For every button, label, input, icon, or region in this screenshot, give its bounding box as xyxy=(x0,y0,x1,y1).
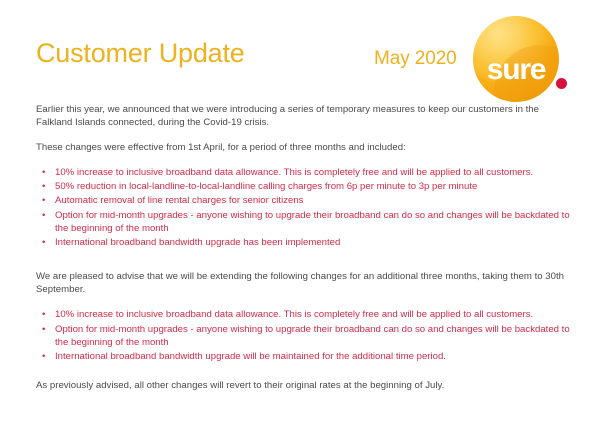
logo-sphere-icon xyxy=(473,16,559,102)
list-item: Automatic removal of line rental charges… xyxy=(36,194,570,207)
extended-measures-list: 10% increase to inclusive broadband data… xyxy=(36,308,570,363)
sure-logo: sure xyxy=(473,16,559,102)
list-item: 50% reduction in local-landline-to-local… xyxy=(36,180,570,193)
original-measures-list: 10% increase to inclusive broadband data… xyxy=(36,166,570,250)
page-title: Customer Update xyxy=(36,38,245,69)
list-item: 10% increase to inclusive broadband data… xyxy=(36,308,570,321)
document-body: Earlier this year, we announced that we … xyxy=(36,103,570,404)
intro-paragraph-2: These changes were effective from 1st Ap… xyxy=(36,141,570,154)
document-header: Customer Update May 2020 sure xyxy=(0,0,600,100)
list-item: Option for mid-month upgrades - anyone w… xyxy=(36,209,570,236)
list-item: International broadband bandwidth upgrad… xyxy=(36,236,570,249)
list-item: 10% increase to inclusive broadband data… xyxy=(36,166,570,179)
list-item: Option for mid-month upgrades - anyone w… xyxy=(36,323,570,350)
closing-paragraph: As previously advised, all other changes… xyxy=(36,379,570,392)
list-item: International broadband bandwidth upgrad… xyxy=(36,350,570,363)
section-spacer xyxy=(36,261,570,270)
customer-update-document: Customer Update May 2020 sure Earlier th… xyxy=(0,0,600,423)
logo-dot-icon xyxy=(556,78,567,89)
extension-paragraph: We are pleased to advise that we will be… xyxy=(36,270,570,297)
intro-paragraph-1: Earlier this year, we announced that we … xyxy=(36,103,570,130)
issue-date: May 2020 xyxy=(374,48,457,70)
